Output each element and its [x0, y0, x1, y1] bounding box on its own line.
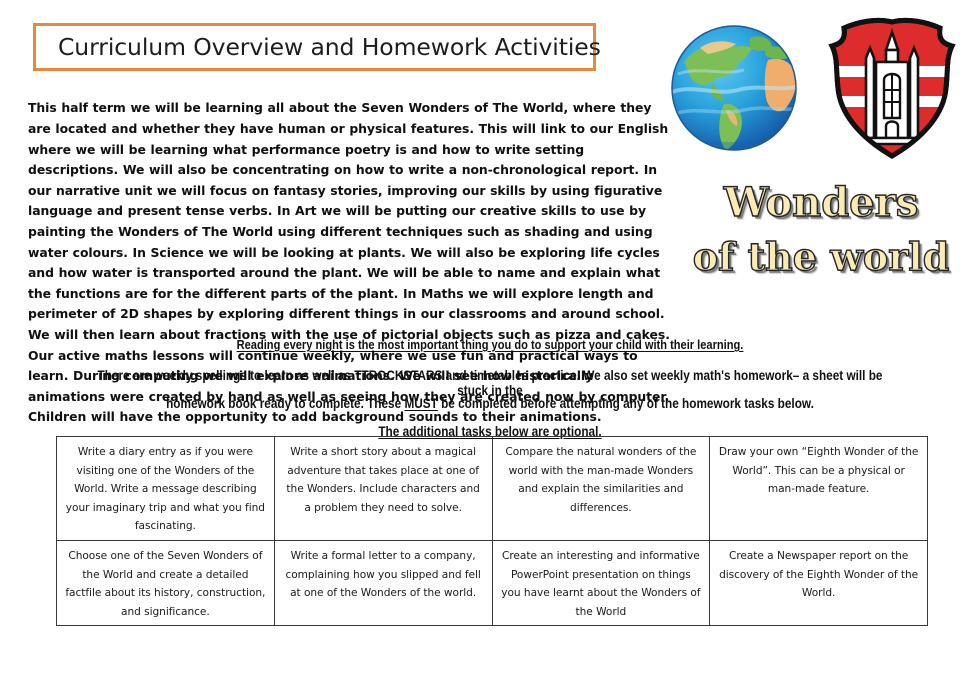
task-cell: Write a diary entry as if you were visit…	[57, 437, 275, 541]
wordart-line-2: of the world	[668, 230, 974, 284]
homework-notice-prefix: homework book ready to complete. These	[166, 396, 404, 411]
task-cell: Write a short story about a magical adve…	[274, 437, 492, 541]
homework-notice-must: MUST	[404, 396, 437, 411]
reading-notice: Reading every night is the most importan…	[83, 338, 896, 352]
task-cell: Compare the natural wonders of the world…	[492, 437, 710, 541]
page-title: Curriculum Overview and Homework Activit…	[58, 33, 601, 61]
task-cell: Create an interesting and informative Po…	[492, 540, 710, 625]
page-title-box: Curriculum Overview and Homework Activit…	[33, 23, 596, 71]
task-cell: Write a formal letter to a company, comp…	[274, 540, 492, 625]
task-cell: Create a Newspaper report on the discove…	[710, 540, 928, 625]
school-crest-shield	[822, 14, 962, 164]
wordart-line-1: Wonders	[668, 176, 974, 230]
homework-notice: homework book ready to complete. These M…	[83, 396, 896, 411]
homework-tasks-table: Write a diary entry as if you were visit…	[56, 436, 928, 626]
spellings-notice: There are weekly spellings to learn as w…	[83, 368, 896, 398]
table-row: Write a diary entry as if you were visit…	[57, 437, 928, 541]
table-row: Choose one of the Seven Wonders of the W…	[57, 540, 928, 625]
globe-earth-illustration	[664, 18, 804, 158]
task-cell: Choose one of the Seven Wonders of the W…	[57, 540, 275, 625]
homework-notice-suffix: be completed before attempting any of th…	[438, 396, 814, 411]
task-cell: Draw your own “Eighth Wonder of the Worl…	[710, 437, 928, 541]
wonders-of-the-world-wordart: Wonders of the world	[668, 176, 974, 284]
